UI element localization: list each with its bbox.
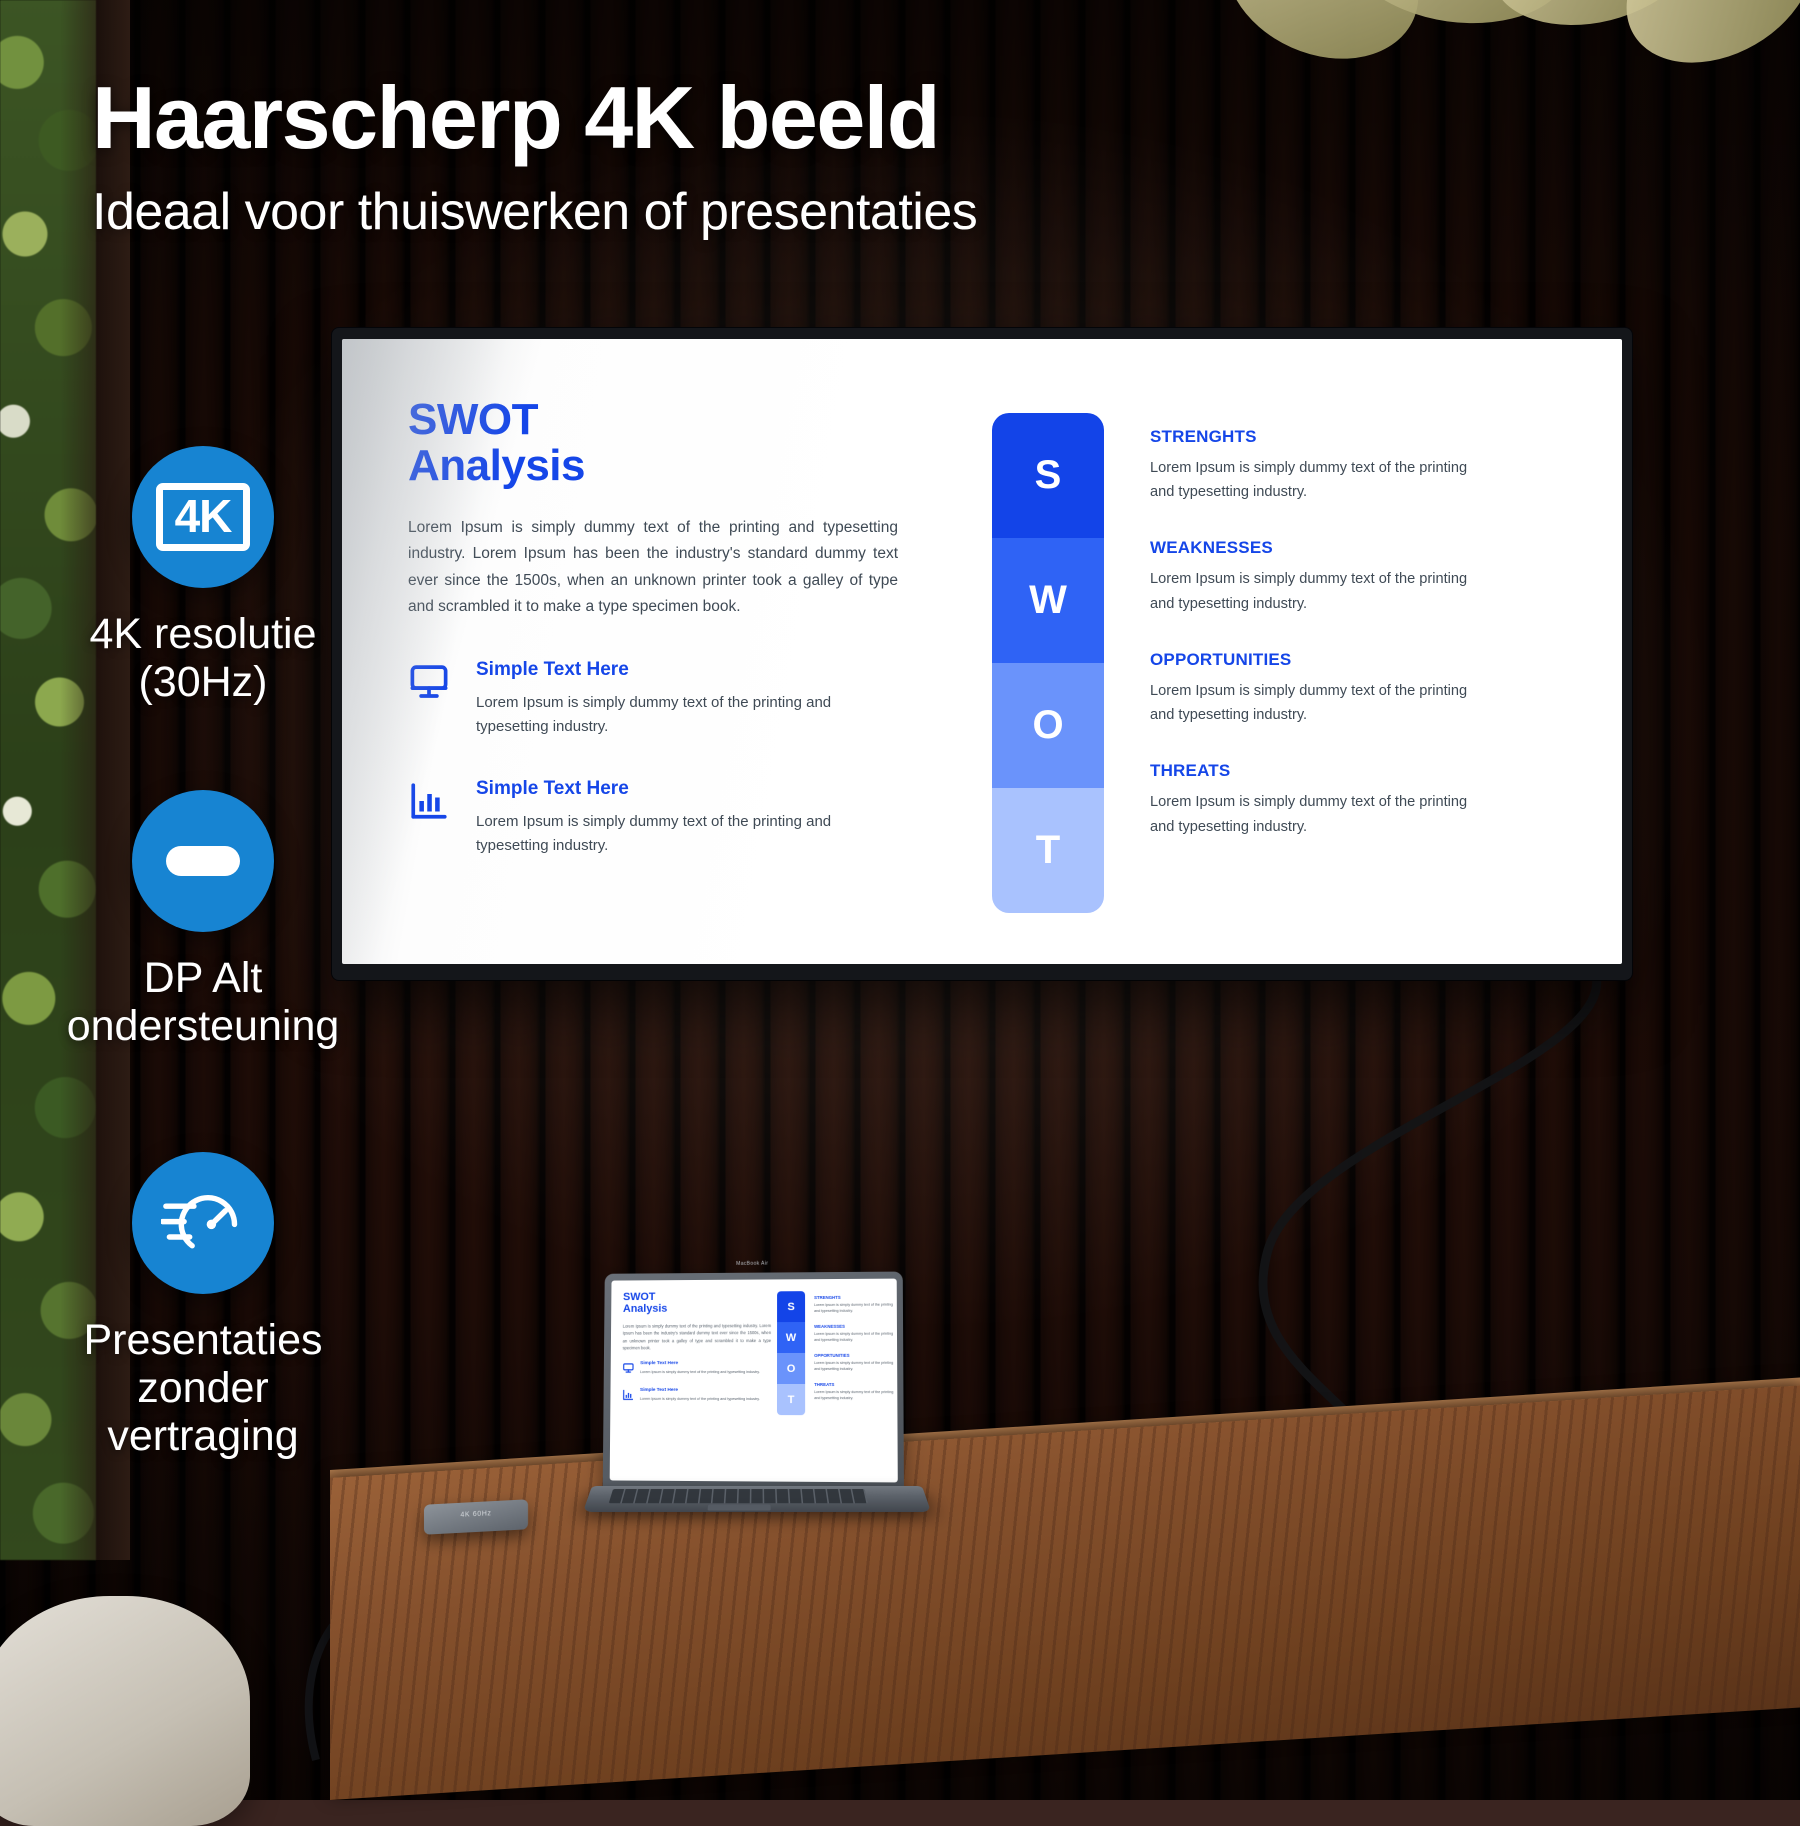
feature-badge-dp-alt: DP Alt ondersteuning [18, 790, 388, 1050]
feature-badge-label: DP Alt ondersteuning [18, 954, 388, 1050]
laptop-swot-entry-heading: WEAKNESSES [814, 1324, 895, 1329]
laptop-swot-entry-body: Lorem Ipsum is simply dummy text of the … [814, 1302, 895, 1315]
laptop: SWOT Analysis Lorem Ipsum is simply dumm… [592, 1272, 922, 1572]
feature-description: Lorem Ipsum is simply dummy text of the … [476, 691, 878, 740]
swot-entry: STRENGHTS Lorem Ipsum is simply dummy te… [1150, 427, 1480, 504]
laptop-swot-entry: WEAKNESSES Lorem Ipsum is simply dummy t… [814, 1324, 895, 1344]
swot-entry-heading: THREATS [1150, 761, 1480, 781]
laptop-swot-entry-heading: THREATS [814, 1382, 895, 1387]
laptop-feature-title: Simple Text Here [640, 1361, 760, 1366]
swot-entry-heading: WEAKNESSES [1150, 538, 1480, 558]
4k-badge-text: 4K [156, 483, 251, 551]
laptop-feature-description: Lorem Ipsum is simply dummy text of the … [640, 1369, 760, 1376]
laptop-feature-item: Simple Text Here Lorem Ipsum is simply d… [622, 1361, 779, 1379]
swot-entry-body: Lorem Ipsum is simply dummy text of the … [1150, 679, 1480, 727]
page-headline: Haarscherp 4K beeld [92, 74, 939, 162]
feature-badge-label: Presentaties zonder vertraging [18, 1316, 388, 1460]
feature-badge-4k-resolution: 4K 4K resolutie (30Hz) [18, 446, 388, 706]
swot-entry-heading: OPPORTUNITIES [1150, 650, 1480, 670]
feature-title: Simple Text Here [476, 778, 878, 800]
laptop-swot-letter-column: S W O T [777, 1291, 805, 1415]
laptop-feature-title: Simple Text Here [640, 1388, 760, 1393]
swot-entry-body: Lorem Ipsum is simply dummy text of the … [1150, 790, 1480, 838]
monitor-icon [622, 1361, 634, 1379]
laptop-swot-letter-cell: O [777, 1353, 805, 1384]
laptop-swot-entry: THREATS Lorem Ipsum is simply dummy text… [814, 1382, 895, 1402]
laptop-feature-item: Simple Text Here Lorem Ipsum is simply d… [622, 1388, 779, 1406]
laptop-trackpad[interactable] [708, 1505, 771, 1511]
dp-alt-pill-icon [132, 790, 274, 932]
swot-letter-cell: T [992, 788, 1104, 913]
feature-badge-label: 4K resolutie (30Hz) [18, 610, 388, 706]
swot-entry-body: Lorem Ipsum is simply dummy text of the … [1150, 456, 1480, 504]
swot-entry-body: Lorem Ipsum is simply dummy text of the … [1150, 567, 1480, 615]
laptop-swot-entry-heading: OPPORTUNITIES [814, 1353, 895, 1358]
laptop-screen: SWOT Analysis Lorem Ipsum is simply dumm… [610, 1279, 898, 1483]
bar-chart-icon [622, 1388, 634, 1406]
swot-letter-cell: W [992, 538, 1104, 663]
swot-letter-cell: S [992, 413, 1104, 538]
laptop-swot-entry: STRENGHTS Lorem Ipsum is simply dummy te… [814, 1295, 895, 1315]
swot-letter-column: S W O T [992, 413, 1104, 913]
slide-feature-item: Simple Text Here Lorem Ipsum is simply d… [408, 659, 878, 740]
laptop-slide-intro: Lorem Ipsum is simply dummy text of the … [623, 1322, 771, 1352]
laptop-swot-entry-list: STRENGHTS Lorem Ipsum is simply dummy te… [814, 1295, 895, 1411]
swot-entry-list: STRENGHTS Lorem Ipsum is simply dummy te… [1150, 427, 1480, 839]
slide-feature-item: Simple Text Here Lorem Ipsum is simply d… [408, 778, 878, 859]
bar-chart-icon [408, 778, 452, 859]
feature-badge-low-latency: Presentaties zonder vertraging [18, 1152, 388, 1460]
pill-shape [166, 846, 240, 876]
swot-entry-heading: STRENGHTS [1150, 427, 1480, 447]
swot-entry: WEAKNESSES Lorem Ipsum is simply dummy t… [1150, 538, 1480, 615]
tv-screen: SWOT Analysis Lorem Ipsum is simply dumm… [342, 339, 1622, 964]
laptop-swot-entry-body: Lorem Ipsum is simply dummy text of the … [814, 1360, 895, 1373]
monitor-icon [408, 659, 452, 740]
laptop-keyboard[interactable] [609, 1489, 868, 1503]
laptop-lid: SWOT Analysis Lorem Ipsum is simply dumm… [603, 1272, 904, 1492]
4k-badge-icon: 4K [132, 446, 274, 588]
swot-letter-cell: O [992, 663, 1104, 788]
dock-label: 4K 60Hz [424, 1508, 528, 1520]
laptop-swot-entry-body: Lorem Ipsum is simply dummy text of the … [814, 1331, 895, 1344]
laptop-swot-entry-heading: STRENGHTS [814, 1295, 895, 1300]
laptop-swot-letter-cell: T [777, 1384, 805, 1415]
swot-entry: THREATS Lorem Ipsum is simply dummy text… [1150, 761, 1480, 838]
swot-presentation-slide: SWOT Analysis Lorem Ipsum is simply dumm… [342, 339, 1622, 964]
swot-entry: OPPORTUNITIES Lorem Ipsum is simply dumm… [1150, 650, 1480, 727]
page-subheadline: Ideaal voor thuiswerken of presentaties [92, 182, 977, 242]
laptop-base [583, 1486, 931, 1512]
office-chair [0, 1596, 250, 1826]
speedometer-fast-icon [132, 1152, 274, 1294]
feature-title: Simple Text Here [476, 659, 878, 681]
laptop-feature-description: Lorem Ipsum is simply dummy text of the … [640, 1396, 760, 1403]
laptop-swot-letter-cell: S [777, 1291, 805, 1322]
laptop-swot-letter-cell: W [777, 1322, 805, 1353]
laptop-swot-entry-body: Lorem Ipsum is simply dummy text of the … [814, 1389, 895, 1402]
usb-c-hub-adapter: 4K 60Hz [424, 1499, 528, 1534]
laptop-swot-entry: OPPORTUNITIES Lorem Ipsum is simply dumm… [814, 1353, 895, 1373]
feature-description: Lorem Ipsum is simply dummy text of the … [476, 810, 878, 859]
wall-mounted-4k-tv: SWOT Analysis Lorem Ipsum is simply dumm… [332, 328, 1632, 980]
slide-intro-paragraph: Lorem Ipsum is simply dummy text of the … [408, 515, 898, 622]
